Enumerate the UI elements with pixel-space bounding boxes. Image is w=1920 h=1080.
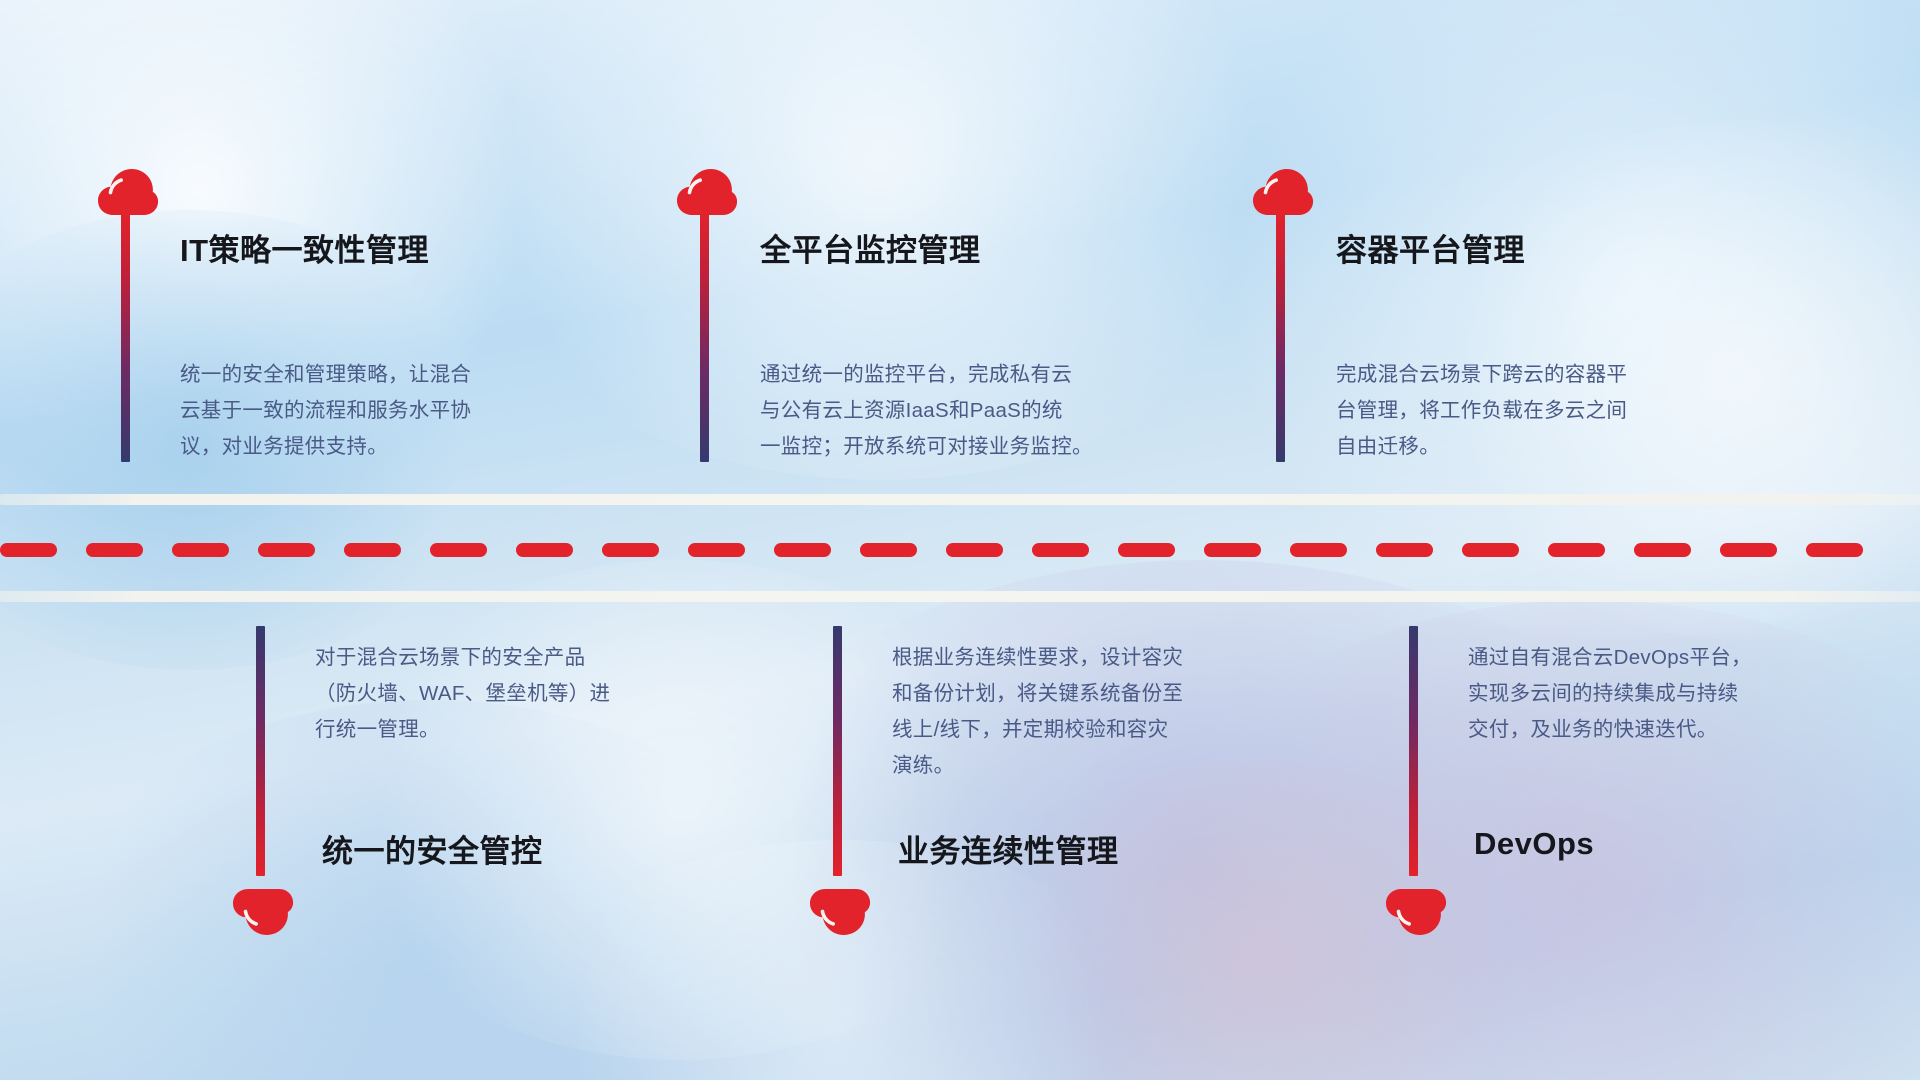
- column-title: 统一的安全管控: [322, 826, 543, 871]
- background-glow: [330, 560, 1030, 1060]
- body-line: 通过统一的监控平台，完成私有云: [760, 357, 1200, 393]
- road-dash: [774, 543, 831, 557]
- connector-line: [700, 212, 709, 462]
- body-line: 台管理，将工作负载在多云之间: [1336, 393, 1766, 429]
- cloud-icon: [97, 168, 159, 216]
- column-body: 对于混合云场景下的安全产品 （防火墙、WAF、堡垒机等）进 行统一管理。: [315, 640, 745, 748]
- road-dash: [516, 543, 573, 557]
- road-dash: [1806, 543, 1863, 557]
- body-line: 演练。: [892, 748, 1332, 784]
- column-title: 业务连续性管理: [898, 826, 1119, 871]
- road-dash: [172, 543, 229, 557]
- road-dashed-center-line: [0, 543, 1920, 557]
- cloud-icon: [1385, 888, 1447, 936]
- road-dash: [1634, 543, 1691, 557]
- road-dash: [860, 543, 917, 557]
- road-dash: [86, 543, 143, 557]
- connector-line: [256, 626, 265, 876]
- column-body: 统一的安全和管理策略，让混合 云基于一致的流程和服务水平协 议，对业务提供支持。: [180, 357, 610, 465]
- connector-line: [121, 212, 130, 462]
- road-dash: [258, 543, 315, 557]
- road-dash: [946, 543, 1003, 557]
- column-title: 全平台监控管理: [760, 225, 981, 270]
- road-dash: [688, 543, 745, 557]
- body-line: 对于混合云场景下的安全产品: [315, 640, 745, 676]
- column-title: IT策略一致性管理: [180, 225, 429, 270]
- body-line: 完成混合云场景下跨云的容器平: [1336, 357, 1766, 393]
- body-line: 议，对业务提供支持。: [180, 429, 610, 465]
- body-line: 线上/线下，并定期校验和容灾: [892, 712, 1332, 748]
- background-glow: [700, 560, 1700, 1080]
- body-line: 行统一管理。: [315, 712, 745, 748]
- road-dash: [1462, 543, 1519, 557]
- road-dash: [1376, 543, 1433, 557]
- connector-line: [1276, 212, 1285, 462]
- body-line: 统一的安全和管理策略，让混合: [180, 357, 610, 393]
- body-line: （防火墙、WAF、堡垒机等）进: [315, 676, 745, 712]
- cloud-icon: [232, 888, 294, 936]
- infographic-canvas: IT策略一致性管理 统一的安全和管理策略，让混合 云基于一致的流程和服务水平协 …: [0, 0, 1920, 1080]
- body-line: 通过自有混合云DevOps平台，: [1468, 640, 1888, 676]
- body-line: 实现多云间的持续集成与持续: [1468, 676, 1888, 712]
- road-dash: [344, 543, 401, 557]
- body-line: 一监控；开放系统可对接业务监控。: [760, 429, 1200, 465]
- road-dash: [1118, 543, 1175, 557]
- road-dash: [0, 543, 57, 557]
- cloud-icon: [809, 888, 871, 936]
- body-line: 自由迁移。: [1336, 429, 1766, 465]
- column-title: 容器平台管理: [1336, 225, 1525, 270]
- road-dash: [602, 543, 659, 557]
- background-glow: [980, 760, 1540, 1080]
- body-line: 根据业务连续性要求，设计容灾: [892, 640, 1332, 676]
- connector-line: [1409, 626, 1418, 876]
- column-title: DevOps: [1474, 826, 1594, 862]
- column-body: 完成混合云场景下跨云的容器平 台管理，将工作负载在多云之间 自由迁移。: [1336, 357, 1766, 465]
- body-line: 与公有云上资源IaaS和PaaS的统: [760, 393, 1200, 429]
- road-edge-line-top: [0, 494, 1920, 505]
- road-edge-line-bottom: [0, 591, 1920, 602]
- road-dash: [430, 543, 487, 557]
- road-dash: [1290, 543, 1347, 557]
- road-dash: [1548, 543, 1605, 557]
- road-dash: [1720, 543, 1777, 557]
- background-glow: [520, 840, 1160, 1080]
- road-dash: [1204, 543, 1261, 557]
- connector-line: [833, 626, 842, 876]
- road-dash: [1032, 543, 1089, 557]
- body-line: 和备份计划，将关键系统备份至: [892, 676, 1332, 712]
- body-line: 云基于一致的流程和服务水平协: [180, 393, 610, 429]
- background-glow: [40, 700, 820, 1080]
- body-line: 交付，及业务的快速迭代。: [1468, 712, 1888, 748]
- cloud-icon: [1252, 168, 1314, 216]
- column-body: 通过自有混合云DevOps平台， 实现多云间的持续集成与持续 交付，及业务的快速…: [1468, 640, 1888, 748]
- cloud-icon: [676, 168, 738, 216]
- column-body: 根据业务连续性要求，设计容灾 和备份计划，将关键系统备份至 线上/线下，并定期校…: [892, 640, 1332, 784]
- column-body: 通过统一的监控平台，完成私有云 与公有云上资源IaaS和PaaS的统 一监控；开…: [760, 357, 1200, 465]
